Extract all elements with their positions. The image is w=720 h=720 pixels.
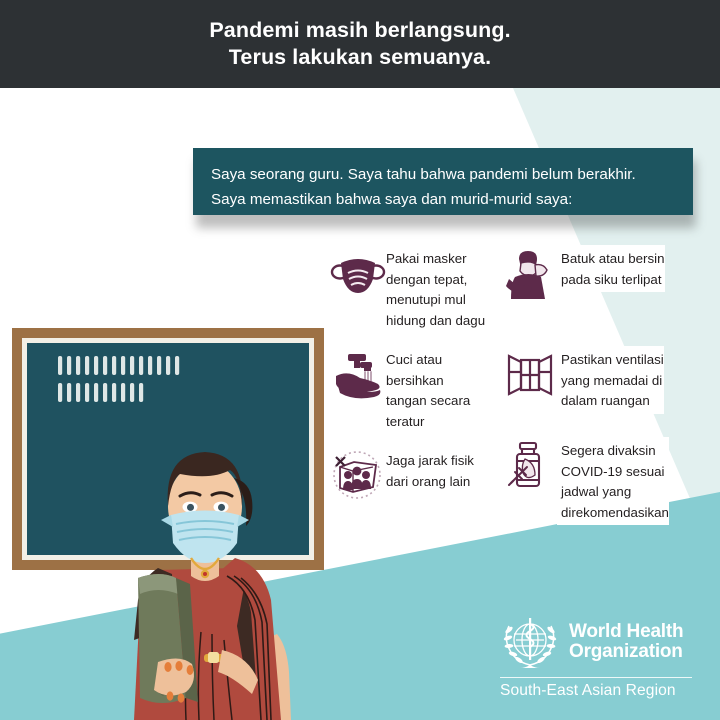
face-mask-icon xyxy=(330,247,386,299)
cough-into-elbow-icon xyxy=(505,247,561,299)
vaccine-vial-icon xyxy=(505,439,561,491)
who-org-line-1: World Health xyxy=(569,622,683,643)
who-region-label: South-East Asian Region xyxy=(500,682,700,700)
infographic-poster: Pandemi masih berlangsung. Terus lakukan… xyxy=(0,0,720,720)
prevention-tips-list: Pakai masker dengan tepat, menutupi mul … xyxy=(330,243,720,533)
open-window-icon xyxy=(505,348,561,400)
tip-label: Pastikan ventilasi yang memadai di dalam… xyxy=(561,348,664,412)
quote-line-2: Saya memastikan bahwa saya dan murid-mur… xyxy=(211,187,675,212)
tip-item-cough-elbow: Batuk atau bersin pada siku terlipat xyxy=(505,247,720,299)
masked-teacher-illustration xyxy=(8,310,338,720)
avoid-crowds-icon xyxy=(330,449,386,501)
header-title-line-2: Terus lakukan semuanya. xyxy=(229,44,491,71)
tip-label: Pakai masker dengan tepat, menutupi mul … xyxy=(386,247,485,331)
header-banner: Pandemi masih berlangsung. Terus lakukan… xyxy=(0,0,720,88)
tip-label: Batuk atau bersin pada siku terlipat xyxy=(561,247,665,290)
tip-label: Cuci atau bersihkan tangan secara teratu… xyxy=(386,348,470,432)
who-logo: World Health Organization South-East Asi… xyxy=(500,612,700,698)
who-emblem-icon xyxy=(500,612,560,672)
quote-box: Saya seorang guru. Saya tahu bahwa pande… xyxy=(193,148,693,215)
who-divider xyxy=(500,677,692,678)
tip-label: Jaga jarak fisik dari orang lain xyxy=(386,449,474,492)
tip-item-wear-mask: Pakai masker dengan tepat, menutupi mul … xyxy=(330,247,515,331)
handwashing-tap-icon xyxy=(330,348,386,400)
tip-item-physical-distance: Jaga jarak fisik dari orang lain xyxy=(330,449,515,501)
tip-item-wash-hands: Cuci atau bersihkan tangan secara teratu… xyxy=(330,348,515,432)
header-title-line-1: Pandemi masih berlangsung. xyxy=(209,17,510,44)
tip-item-ventilation: Pastikan ventilasi yang memadai di dalam… xyxy=(505,348,720,412)
quote-line-1: Saya seorang guru. Saya tahu bahwa pande… xyxy=(211,162,675,187)
tip-item-get-vaccinated: Segera divaksin COVID-19 sesuai jadwal y… xyxy=(505,439,720,523)
tip-label: Segera divaksin COVID-19 sesuai jadwal y… xyxy=(561,439,669,523)
who-org-line-2: Organization xyxy=(569,642,683,663)
